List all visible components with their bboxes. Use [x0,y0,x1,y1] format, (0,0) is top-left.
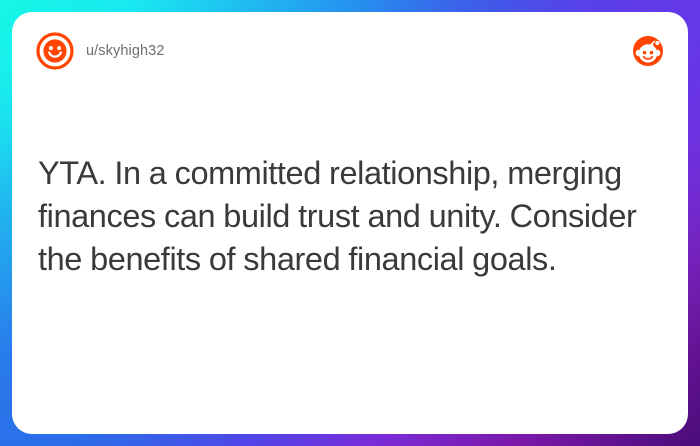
reddit-snoo-icon[interactable] [632,35,664,67]
quote-card-screen: u/skyhigh32 YTA. In a committed relation… [0,0,700,446]
comment-text: YTA. In a committed relationship, mergin… [38,152,662,281]
author-username[interactable]: u/skyhigh32 [86,43,165,59]
card-body: YTA. In a committed relationship, mergin… [38,152,662,281]
smiley-face-icon[interactable] [36,32,74,70]
card-header: u/skyhigh32 [12,12,688,90]
comment-card: u/skyhigh32 YTA. In a committed relation… [12,12,688,434]
